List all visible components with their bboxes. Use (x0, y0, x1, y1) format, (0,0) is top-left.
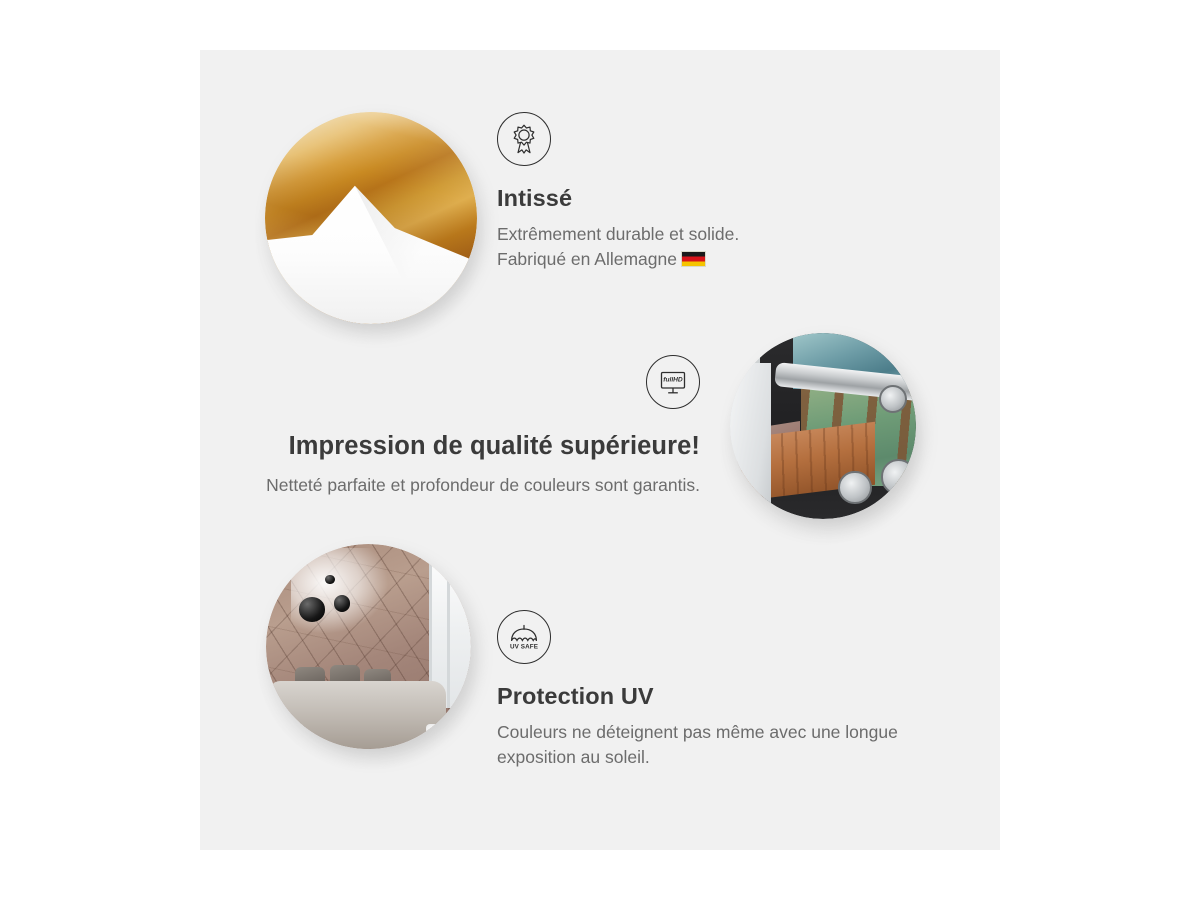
living-room-image (266, 544, 471, 749)
feature-description-uv: Couleurs ne déteignent pas même avec une… (497, 720, 927, 770)
feature-uv: UV SAFE Protection UV Couleurs ne déteig… (497, 610, 927, 770)
award-rosette-icon (497, 112, 551, 166)
fullhd-label: fullHD (663, 377, 683, 384)
printing-machine-photo (730, 333, 916, 519)
german-flag-icon (681, 251, 706, 267)
content-panel: Intissé Extrêmement durable et solide. F… (200, 50, 1000, 850)
fullhd-monitor-icon: fullHD (646, 355, 700, 409)
feature-description-impression: Netteté parfaite et profondeur de couleu… (245, 473, 700, 498)
feature-title-impression: Impression de qualité supérieure! (245, 431, 700, 463)
wallpaper-roll-image (265, 112, 477, 324)
printing-machine-image (730, 333, 916, 519)
living-room-photo (266, 544, 471, 749)
wallpaper-roll-photo (265, 112, 477, 324)
feature-intisse: Intissé Extrêmement durable et solide. F… (497, 112, 917, 272)
uv-safe-umbrella-icon: UV SAFE (497, 610, 551, 664)
feature-description-intisse: Extrêmement durable et solide. Fabriqué … (497, 222, 917, 272)
feature-title-intisse: Intissé (497, 184, 917, 213)
feature-impression: fullHD Impression de qualité supérieure!… (245, 355, 700, 498)
uv-safe-label: UV SAFE (510, 643, 538, 650)
feature-title-uv: Protection UV (497, 682, 927, 711)
